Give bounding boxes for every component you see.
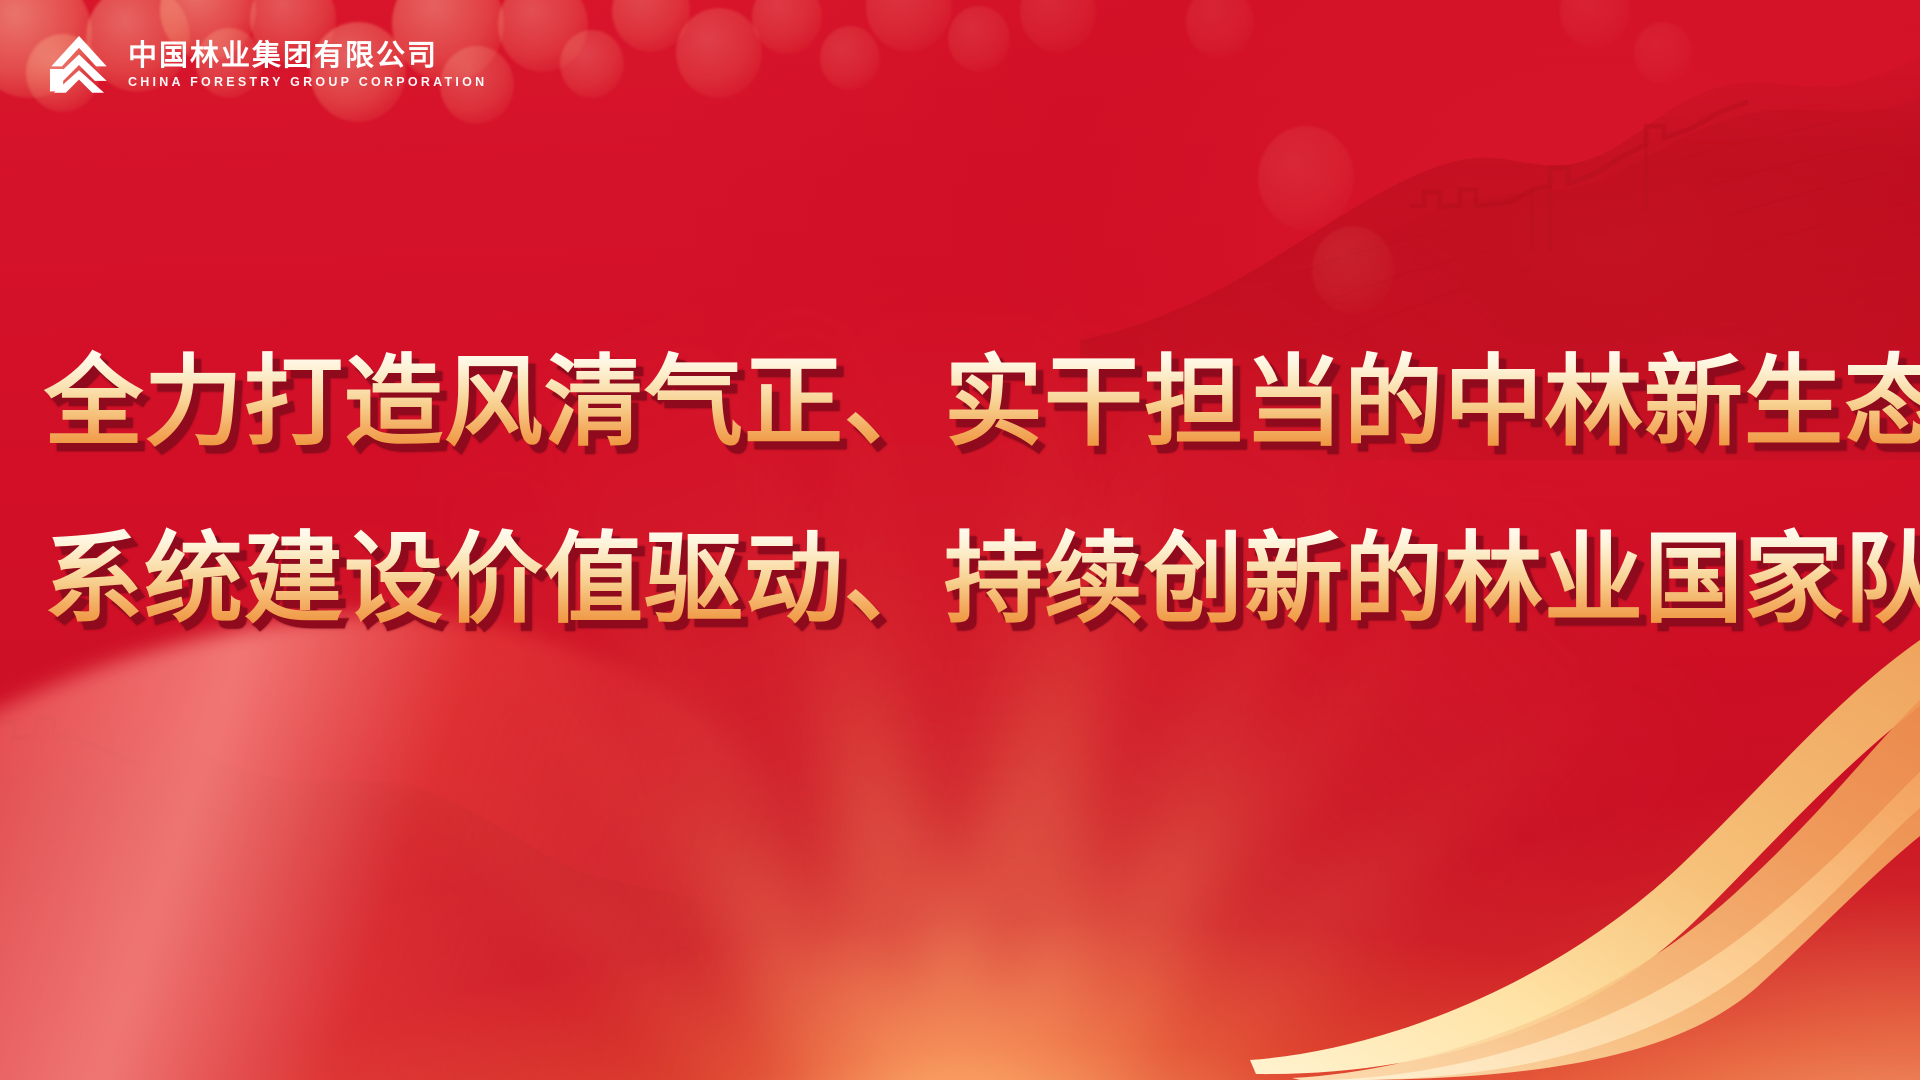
headline-line-1-text: 全力打造风清气正、实干担当的中林新生态	[44, 346, 1920, 457]
headline-line-1: 全力打造风清气正、实干担当的中林新生态 全力打造风清气正、实干担当的中林新生态	[44, 352, 1876, 451]
brand-name-en: CHINA FORESTRY GROUP CORPORATION	[128, 76, 487, 89]
forestry-pagoda-tree-mark-icon	[46, 32, 112, 98]
gold-swoosh-ribbon-group	[920, 640, 1920, 1080]
headline-line-2: 系统建设价值驱动、持续创新的林业国家队 系统建设价值驱动、持续创新的林业国家队	[44, 529, 1876, 628]
poster-canvas: 中国林业集团有限公司 CHINA FORESTRY GROUP CORPORAT…	[0, 0, 1920, 1080]
brand-name-cn: 中国林业集团有限公司	[128, 42, 487, 71]
headline-line-2-text: 系统建设价值驱动、持续创新的林业国家队	[44, 523, 1920, 634]
brand-logo-lockup[interactable]: 中国林业集团有限公司 CHINA FORESTRY GROUP CORPORAT…	[46, 32, 487, 98]
headline-block: 全力打造风清气正、实干担当的中林新生态 全力打造风清气正、实干担当的中林新生态 …	[0, 352, 1920, 628]
